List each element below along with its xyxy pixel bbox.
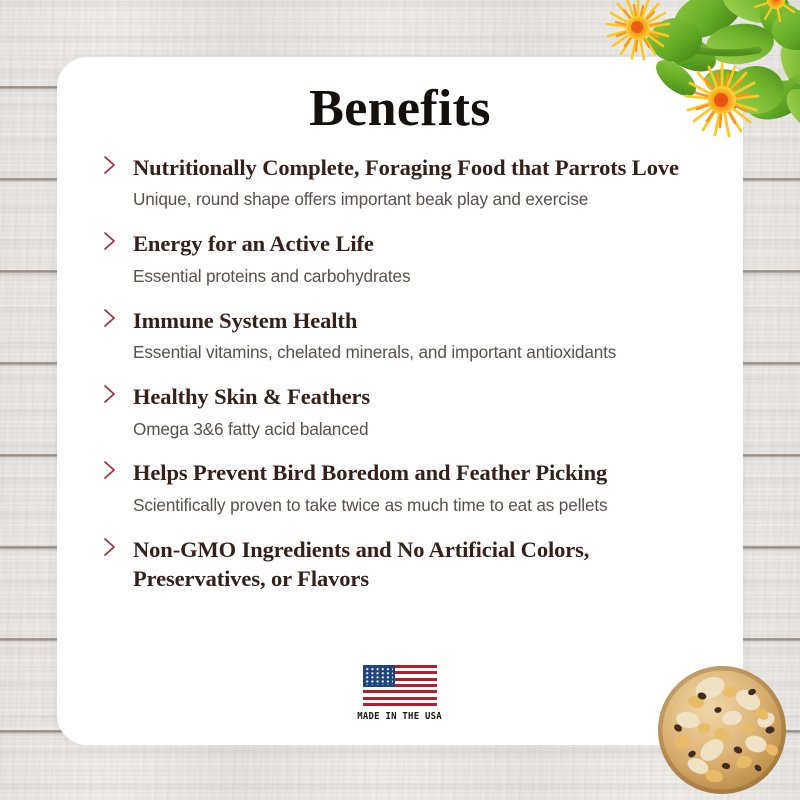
benefit-item: Non-GMO Ingredients and No Artificial Co… [98, 535, 723, 594]
chevron-right-icon [100, 459, 120, 481]
benefit-item: Helps Prevent Bird Boredom and Feather P… [98, 458, 723, 516]
benefit-heading: Energy for an Active Life [133, 229, 723, 258]
benefits-list: Nutritionally Complete, Foraging Food th… [98, 153, 723, 594]
benefit-heading: Immune System Health [133, 306, 723, 335]
benefits-card: Benefits Nutritionally Complete, Foragin… [57, 57, 743, 745]
benefit-item: Immune System Health Essential vitamins,… [98, 306, 723, 364]
chevron-right-icon [100, 536, 120, 558]
made-in-usa-label: MADE IN THE USA [358, 711, 443, 722]
made-in-usa-badge: MADE IN THE USA [57, 665, 743, 722]
benefit-subtext: Omega 3&6 fatty acid balanced [133, 418, 723, 441]
screenshot-root: Benefits Nutritionally Complete, Foragin… [0, 0, 800, 800]
benefit-subtext: Unique, round shape offers important bea… [133, 188, 723, 211]
flag-canton [363, 665, 395, 687]
benefit-heading: Helps Prevent Bird Boredom and Feather P… [133, 458, 723, 487]
benefit-item: Nutritionally Complete, Foraging Food th… [98, 153, 723, 211]
benefit-heading: Non-GMO Ingredients and No Artificial Co… [133, 535, 613, 594]
chevron-right-icon [100, 154, 120, 176]
page-title: Benefits [57, 83, 743, 135]
chevron-right-icon [100, 230, 120, 252]
chevron-right-icon [100, 383, 120, 405]
benefit-subtext: Essential vitamins, chelated minerals, a… [133, 341, 723, 364]
benefit-heading: Healthy Skin & Feathers [133, 382, 723, 411]
benefit-subtext: Scientifically proven to take twice as m… [133, 494, 723, 517]
benefit-subtext: Essential proteins and carbohydrates [133, 265, 723, 288]
benefit-item: Energy for an Active Life Essential prot… [98, 229, 723, 287]
benefit-heading: Nutritionally Complete, Foraging Food th… [133, 153, 723, 182]
benefit-item: Healthy Skin & Feathers Omega 3&6 fatty … [98, 382, 723, 440]
chevron-right-icon [100, 307, 120, 329]
usa-flag-icon [363, 665, 437, 706]
flag-stars [365, 667, 393, 685]
